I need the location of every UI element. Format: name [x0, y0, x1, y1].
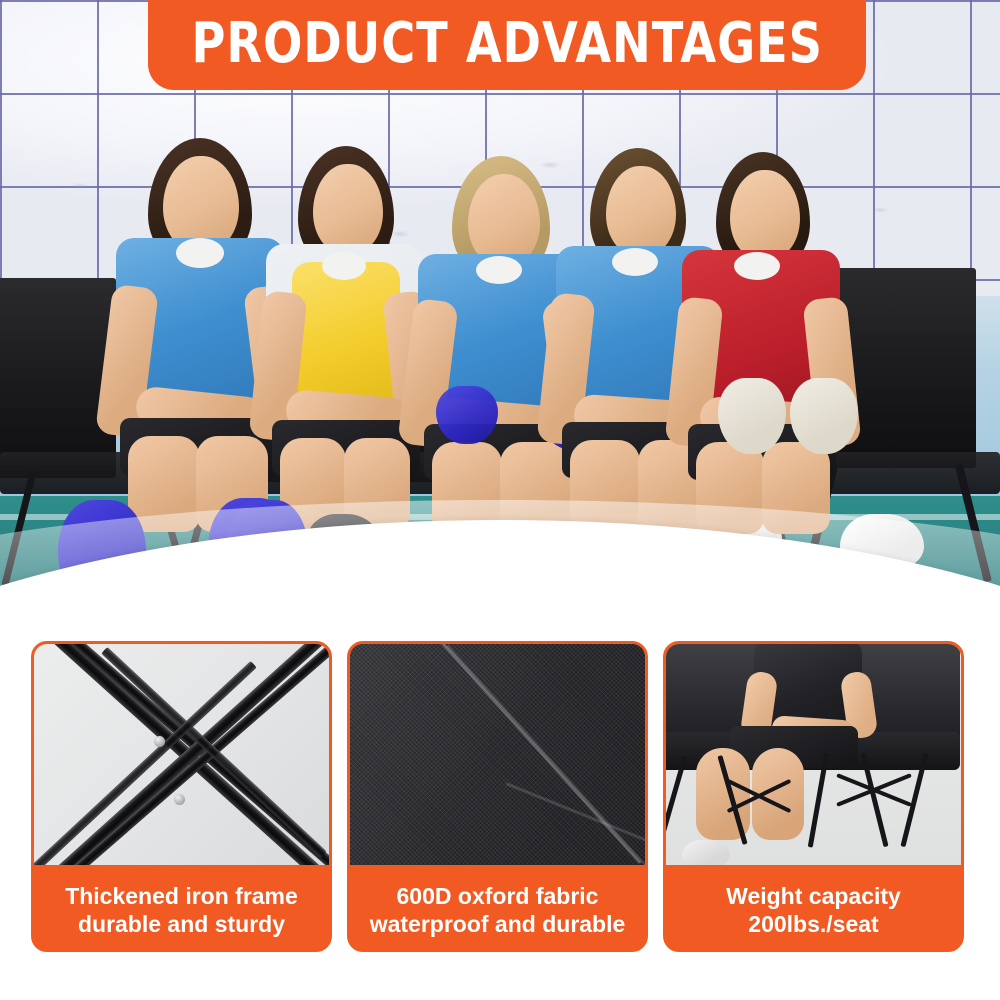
panel-caption: 600D oxford fabric waterproof and durabl… — [350, 865, 645, 952]
caption-line-2: waterproof and durable — [370, 910, 626, 938]
feature-panel-iron-frame[interactable]: Thickened iron frame durable and sturdy — [31, 641, 332, 952]
collar — [612, 248, 658, 276]
caption-line-1: Thickened iron frame — [65, 882, 298, 910]
knee-pad — [718, 378, 786, 454]
panel-caption: Weight capacity 200lbs./seat — [666, 865, 961, 952]
bench-back-panel — [0, 278, 116, 478]
iron-frame-image — [34, 644, 329, 865]
head — [313, 164, 383, 254]
rivet — [154, 736, 165, 747]
caption-line-1: Weight capacity — [726, 882, 901, 910]
collar — [476, 256, 522, 284]
shoe — [682, 840, 730, 865]
caption-line-2: 200lbs./seat — [748, 910, 878, 938]
knee-pad — [436, 386, 498, 444]
page-title: PRODUCT ADVANTAGES — [191, 4, 822, 72]
collar — [176, 238, 224, 268]
caption-line-1: 600D oxford fabric — [397, 882, 599, 910]
thigh — [128, 436, 200, 532]
header-banner: PRODUCT ADVANTAGES — [148, 0, 866, 90]
rivet — [174, 794, 185, 805]
head — [730, 170, 800, 260]
caption-line-2: durable and sturdy — [78, 910, 285, 938]
hero-photo — [0, 0, 1000, 640]
collar — [322, 252, 366, 280]
thigh — [696, 442, 764, 534]
feature-panel-weight-capacity[interactable]: Weight capacity 200lbs./seat — [663, 641, 964, 952]
panel-caption: Thickened iron frame durable and sturdy — [34, 865, 329, 952]
product-advantages-infographic: PRODUCT ADVANTAGES Thickened iron frame … — [0, 0, 1000, 1000]
weight-capacity-image — [666, 644, 961, 865]
feature-panel-oxford-fabric[interactable]: 600D oxford fabric waterproof and durabl… — [347, 641, 648, 952]
head — [606, 166, 676, 256]
oxford-fabric-image — [350, 644, 645, 865]
fabric-texture — [350, 644, 645, 865]
knee-pad — [790, 378, 858, 454]
thigh — [570, 440, 640, 534]
collar — [734, 252, 780, 280]
head — [468, 174, 540, 266]
feature-panels: Thickened iron frame durable and sturdy … — [0, 638, 1000, 968]
thigh — [762, 442, 830, 534]
